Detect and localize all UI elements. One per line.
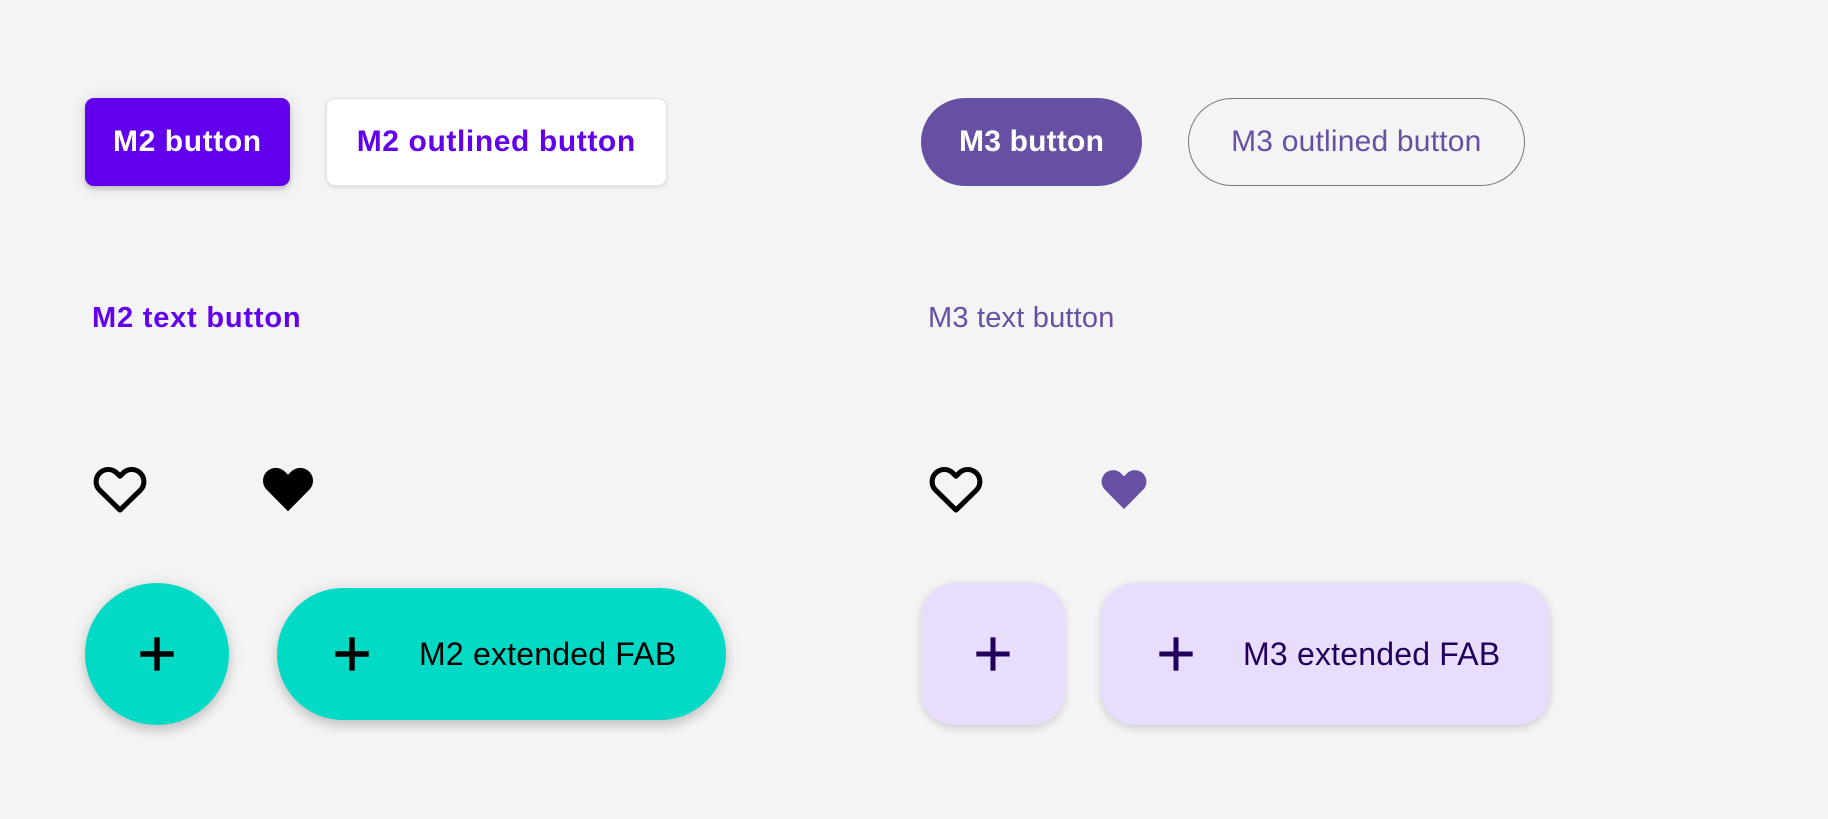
m3-column: M3 button M3 outlined button M3 text but… <box>914 0 1828 819</box>
m2-filled-button[interactable]: M2 button <box>85 98 290 186</box>
m2-column: M2 button M2 outlined button M2 text but… <box>0 0 914 819</box>
m3-text-button[interactable]: M3 text button <box>921 302 1122 335</box>
heart-outline-icon <box>89 461 151 519</box>
m2-extended-fab[interactable]: M2 extended FAB <box>277 588 726 720</box>
m2-heart-outline-button[interactable] <box>85 455 155 525</box>
m2-outlined-button[interactable]: M2 outlined button <box>326 98 667 186</box>
m2-fab[interactable] <box>85 583 229 725</box>
plus-icon <box>132 629 182 679</box>
plus-icon <box>1151 629 1201 679</box>
m3-filled-button[interactable]: M3 button <box>921 98 1142 186</box>
m3-icon-row <box>921 455 1159 525</box>
m2-button-row: M2 button M2 outlined button <box>85 98 667 186</box>
m3-fab-row: M3 extended FAB <box>921 583 1550 725</box>
heart-outline-icon <box>925 461 987 519</box>
plus-icon <box>327 629 377 679</box>
m2-icon-row <box>85 455 323 525</box>
m3-fab[interactable] <box>921 583 1065 725</box>
plus-icon <box>968 629 1018 679</box>
heart-filled-icon <box>257 461 319 519</box>
m2-fab-row: M2 extended FAB <box>85 583 726 725</box>
m2-text-button-row: M2 text button <box>85 290 308 346</box>
m3-heart-filled-button[interactable] <box>1089 455 1159 525</box>
m2-heart-filled-button[interactable] <box>253 455 323 525</box>
m3-heart-outline-button[interactable] <box>921 455 991 525</box>
heart-filled-icon <box>1096 464 1152 516</box>
m3-outlined-button[interactable]: M3 outlined button <box>1188 98 1524 186</box>
m2-text-button[interactable]: M2 text button <box>85 302 308 335</box>
m3-button-row: M3 button M3 outlined button <box>921 98 1525 186</box>
m3-extended-fab[interactable]: M3 extended FAB <box>1101 583 1550 725</box>
component-showcase: M2 button M2 outlined button M2 text but… <box>0 0 1828 819</box>
m3-extended-fab-label: M3 extended FAB <box>1243 636 1500 673</box>
m3-text-button-row: M3 text button <box>921 290 1122 346</box>
m2-extended-fab-label: M2 extended FAB <box>419 636 676 673</box>
